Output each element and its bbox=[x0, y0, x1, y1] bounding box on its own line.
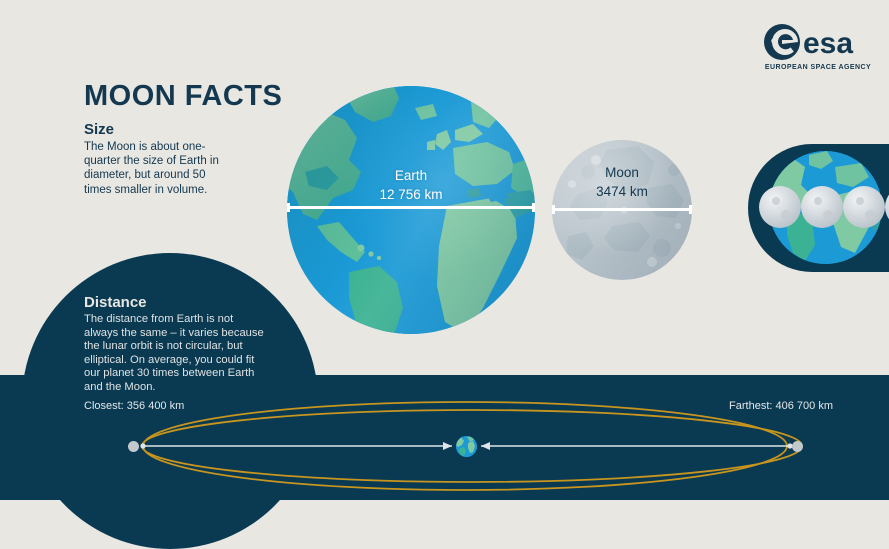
orbit-earth-globe bbox=[456, 436, 477, 457]
earth-globe bbox=[287, 86, 535, 334]
closest-arrow-head bbox=[443, 442, 452, 450]
earth-diameter-value: 12 756 km bbox=[287, 185, 535, 204]
infographic-canvas: esa EUROPEAN SPACE AGENCY MOON FACTS Siz… bbox=[0, 0, 889, 500]
earth-shading bbox=[287, 86, 535, 334]
esa-wordmark: esa bbox=[803, 27, 853, 60]
orbit-earth-landmasses bbox=[456, 436, 477, 457]
moon-name: Moon bbox=[552, 163, 692, 182]
moon-marker-closest bbox=[128, 441, 139, 452]
moon-label: Moon 3474 km bbox=[552, 163, 692, 201]
esa-logo: esa EUROPEAN SPACE AGENCY bbox=[763, 22, 873, 77]
moon-diameter-value: 3474 km bbox=[552, 182, 692, 201]
moon-marker-farthest bbox=[792, 441, 803, 452]
earth-label: Earth 12 756 km bbox=[287, 166, 535, 204]
size-section-heading: Size bbox=[84, 121, 114, 138]
esa-logo-mark: esa bbox=[763, 22, 873, 62]
comparison-moon-row bbox=[758, 185, 889, 229]
farthest-distance-label: Farthest: 406 700 km bbox=[729, 400, 833, 412]
size-section-body: The Moon is about one-quarter the size o… bbox=[84, 140, 236, 197]
earth-name: Earth bbox=[287, 166, 535, 185]
farthest-arrow-head bbox=[481, 442, 490, 450]
distance-section-heading: Distance bbox=[84, 294, 147, 311]
esa-tagline: EUROPEAN SPACE AGENCY bbox=[763, 64, 873, 71]
closest-distance-label: Closest: 356 400 km bbox=[84, 400, 184, 412]
earth-diameter-line bbox=[287, 206, 535, 209]
closest-vertex-cap bbox=[140, 443, 145, 448]
page-title: MOON FACTS bbox=[84, 80, 282, 113]
moon-diameter-line bbox=[552, 208, 692, 211]
distance-section-body: The distance from Earth is not always th… bbox=[84, 313, 264, 395]
